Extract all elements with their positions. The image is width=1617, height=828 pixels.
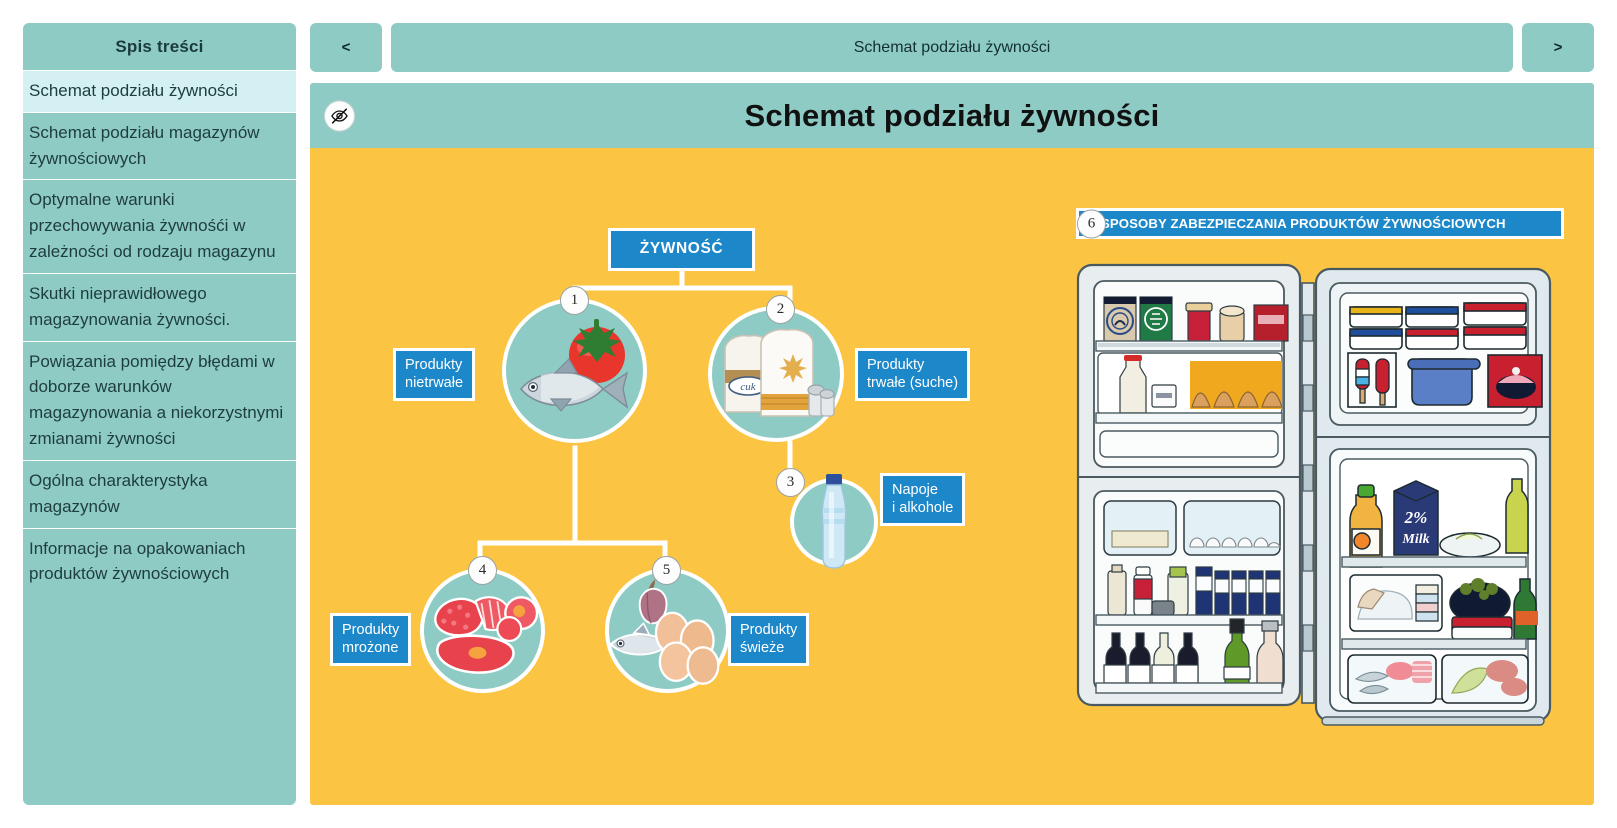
flour-sugar-sacks-illustration: cuk: [717, 320, 835, 428]
milk-carton-label: Milk: [1401, 532, 1429, 547]
topbar: < Schemat podziału żywności >: [310, 23, 1594, 72]
diagram-badge-5: 5: [652, 556, 681, 585]
diagram-label-5: Produkty świeże: [728, 613, 809, 666]
sidebar-item-4[interactable]: Powiązania pomiędzy błędami w doborze wa…: [23, 341, 296, 460]
next-button[interactable]: >: [1522, 23, 1594, 72]
prev-button[interactable]: <: [310, 23, 382, 72]
diagram-badge-1: 1: [560, 286, 589, 315]
sidebar-item-0[interactable]: Schemat podziału żywności: [23, 70, 296, 112]
fridge-banner: 6 SPOSOBY ZABEZPIECZANIA PRODUKTÓW ŻYWNO…: [1076, 208, 1564, 239]
diagram-badge-2: 2: [766, 295, 795, 324]
sidebar: Spis treści Schemat podziału żywności Sc…: [23, 23, 296, 805]
page-title: Schemat podziału żywności: [745, 98, 1160, 134]
milk-carton-percent: 2%: [1404, 508, 1428, 527]
diagram-label-2: Produkty trwałe (suche): [855, 348, 970, 401]
eggs-fish-onion-illustration: [609, 577, 726, 685]
app-root: Spis treści Schemat podziału żywności Sc…: [0, 0, 1617, 828]
diagram-node-4[interactable]: [420, 568, 545, 693]
fish-and-tomato-illustration: [511, 315, 639, 427]
breadcrumb-label: Schemat podziału żywności: [854, 39, 1051, 57]
sidebar-item-6[interactable]: Informacje na opakowaniach produktów żyw…: [23, 528, 296, 596]
diagram-label-1: Produkty nietrwałe: [393, 348, 475, 401]
toc-title: Spis treści: [23, 23, 296, 70]
diagram-root-label: ŻYWNOŚĆ: [608, 228, 755, 271]
breadcrumb: Schemat podziału żywności: [391, 23, 1513, 72]
sidebar-item-2[interactable]: Optymalne warunki przechowywania żywność…: [23, 179, 296, 272]
toc-list: Schemat podziału żywności Schemat podzia…: [23, 70, 296, 595]
fridge-panel: 6 SPOSOBY ZABEZPIECZANIA PRODUKTÓW ŻYWNO…: [1064, 208, 1564, 735]
frozen-meat-illustration: [424, 581, 541, 681]
sidebar-item-1[interactable]: Schemat podziału magazynów żywnościowych: [23, 112, 296, 180]
svg-text:cuk: cuk: [740, 381, 756, 393]
document-header: Schemat podziału żywności: [310, 83, 1594, 148]
eye-slash-icon[interactable]: [324, 100, 355, 131]
diagram-node-2[interactable]: cuk: [708, 306, 844, 442]
diagram-node-5[interactable]: [605, 568, 730, 693]
diagram-node-1[interactable]: [502, 298, 647, 443]
diagram-label-4: Produkty mrożone: [330, 613, 411, 666]
diagram-node-3[interactable]: [790, 478, 878, 566]
diagram-badge-3: 3: [776, 468, 805, 497]
sidebar-item-3[interactable]: Skutki nieprawidłowego magazynowania żyw…: [23, 273, 296, 341]
main-area: < Schemat podziału żywności > Schemat po…: [296, 0, 1617, 828]
diagram-label-3: Napoje i alkohole: [880, 473, 965, 526]
eye-slash-glyph: [330, 106, 349, 125]
water-bottle-illustration: [812, 472, 856, 572]
content-canvas: ŻYWNOŚĆ: [310, 148, 1594, 805]
fridge-badge-6: 6: [1077, 209, 1106, 238]
fridge-banner-label: SPOSOBY ZABEZPIECZANIA PRODUKTÓW ŻYWNOŚC…: [1101, 216, 1506, 231]
sidebar-item-5[interactable]: Ogólna charakterystyka magazynów: [23, 460, 296, 528]
open-refrigerator-illustration: 2% Milk: [1064, 255, 1564, 735]
document-panel: Schemat podziału żywności: [310, 83, 1594, 805]
diagram-badge-4: 4: [468, 556, 497, 585]
